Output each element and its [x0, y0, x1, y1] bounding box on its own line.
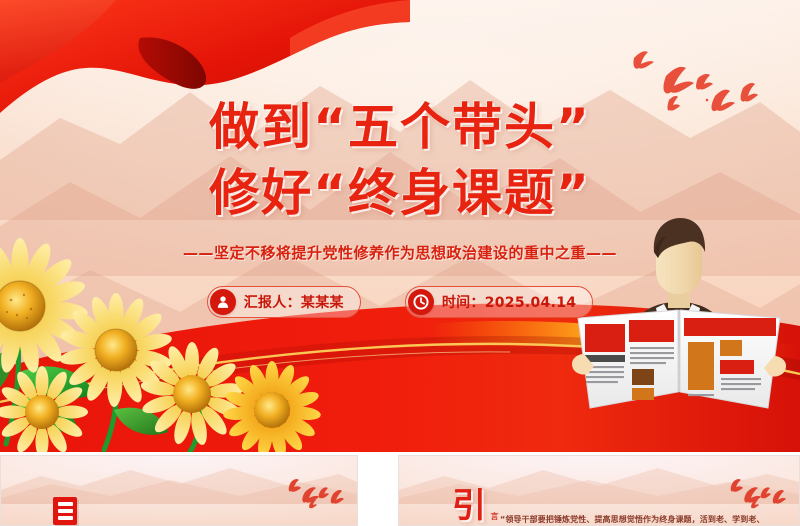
person-icon — [210, 289, 236, 315]
flying-birds-icon — [723, 474, 789, 514]
clock-icon — [408, 289, 434, 315]
list-bar — [58, 516, 73, 520]
title-line-2: 修好“终身课题” — [0, 162, 800, 224]
list-bar — [58, 509, 73, 513]
presentation-preview: 做到“五个带头” 修好“终身课题” ——坚定不移将提升党性修养作为思想政治建设的… — [0, 0, 800, 526]
page-title: 做到“五个带头” 修好“终身课题” — [0, 96, 800, 224]
sunflower-cluster-icon — [0, 232, 336, 452]
title-line-1: 做到“五个带头” — [0, 96, 800, 158]
presenter-badge[interactable]: 汇报人：某某某 — [207, 286, 361, 318]
intro-quote: “领导干部要把锤炼党性、提高思想觉悟作为终身课题，活到老、学到老、 — [500, 514, 800, 525]
main-slide[interactable]: 做到“五个带头” 修好“终身课题” ——坚定不移将提升党性修养作为思想政治建设的… — [0, 0, 800, 452]
list-bar — [58, 502, 73, 506]
date-badge[interactable]: 时间：2025.04.14 — [405, 286, 593, 318]
subtitle: ——坚定不移将提升党性修养作为思想政治建设的重中之重—— — [0, 242, 800, 263]
list-icon[interactable] — [53, 497, 77, 525]
intro-heading-char: 引 — [452, 489, 486, 523]
presenter-label: 汇报人：某某某 — [244, 292, 344, 312]
flying-birds-icon — [281, 474, 347, 514]
meta-row: 汇报人：某某某 时间：2025.04.14 — [0, 286, 800, 318]
date-label: 时间：2025.04.14 — [442, 292, 576, 312]
intro-heading-sub: 言 — [489, 512, 500, 521]
